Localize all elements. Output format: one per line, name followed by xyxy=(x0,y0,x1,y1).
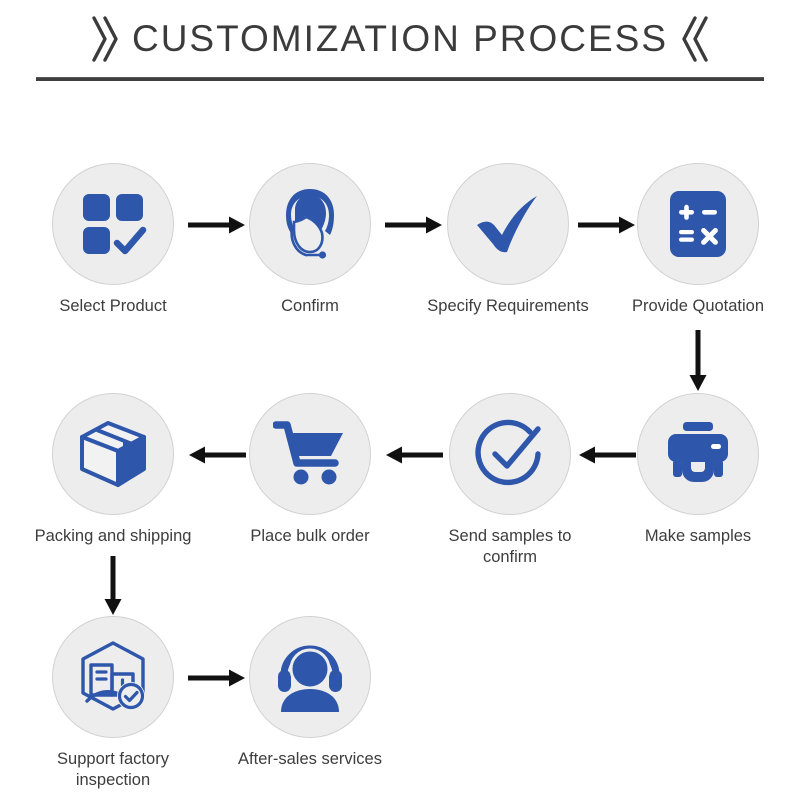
flow-step-confirm[interactable]: Confirm xyxy=(225,163,395,317)
page-title: CUSTOMIZATION PROCESS xyxy=(132,18,668,60)
icon-circle xyxy=(52,616,174,738)
flow-step-label: After-sales services xyxy=(225,749,395,770)
flow-step-label: Send samples to confirm xyxy=(425,526,595,568)
support-agent-headset-icon xyxy=(272,186,348,262)
icon-circle xyxy=(449,393,571,515)
flow-step-packing-and-shipping[interactable]: Packing and shipping xyxy=(28,393,198,547)
arrow-row3-step1-to-step2 xyxy=(188,667,246,689)
chevron-double-right-icon xyxy=(88,15,122,63)
arrow-row1-to-row2 xyxy=(686,330,710,392)
customization-process-infographic: CUSTOMIZATION PROCESS Select Product xyxy=(0,0,800,800)
arrow-row2-step2-to-step1 xyxy=(188,444,246,466)
flow-step-label: Packing and shipping xyxy=(28,526,198,547)
flow-step-specify-requirements[interactable]: Specify Requirements xyxy=(423,163,593,317)
arrow-row1-step1-to-step2 xyxy=(188,214,246,236)
arrow-row1-step2-to-step3 xyxy=(385,214,443,236)
checkmark-icon xyxy=(471,187,545,261)
flow-step-after-sales-services[interactable]: After-sales services xyxy=(225,616,395,770)
flow-step-label: Support factory inspection xyxy=(28,749,198,791)
shopping-cart-icon xyxy=(273,419,347,489)
title-divider xyxy=(36,77,764,81)
grid-check-icon xyxy=(77,188,149,260)
icon-circle xyxy=(637,163,759,285)
arrow-row2-to-row3 xyxy=(101,556,125,616)
title-row: CUSTOMIZATION PROCESS xyxy=(0,8,800,70)
package-box-icon xyxy=(76,417,150,491)
flow-step-label: Place bulk order xyxy=(225,526,395,547)
icon-circle xyxy=(52,163,174,285)
chevron-double-left-icon xyxy=(678,15,712,63)
flow-step-label: Provide Quotation xyxy=(613,296,783,317)
icon-circle xyxy=(637,393,759,515)
arrow-row2-step3-to-step2 xyxy=(385,444,443,466)
flow-step-make-samples[interactable]: Make samples xyxy=(613,393,783,547)
arrow-row2-step4-to-step3 xyxy=(578,444,636,466)
icon-circle xyxy=(447,163,569,285)
flow-step-label: Make samples xyxy=(613,526,783,547)
flow-step-place-bulk-order[interactable]: Place bulk order xyxy=(225,393,395,547)
flow-step-label: Confirm xyxy=(225,296,395,317)
flow-step-support-factory-inspection[interactable]: Support factory inspection xyxy=(28,616,198,791)
icon-circle xyxy=(249,393,371,515)
arrow-row1-step3-to-step4 xyxy=(578,214,636,236)
flow-step-label: Select Product xyxy=(28,296,198,317)
flow-step-provide-quotation[interactable]: Provide Quotation xyxy=(613,163,783,317)
header: CUSTOMIZATION PROCESS xyxy=(0,0,800,100)
icon-circle xyxy=(249,163,371,285)
calculator-icon xyxy=(665,188,731,260)
flow-step-label: Specify Requirements xyxy=(423,296,593,317)
flow-step-send-samples-to-confirm[interactable]: Send samples to confirm xyxy=(425,393,595,568)
icon-circle xyxy=(52,393,174,515)
headphones-person-icon xyxy=(273,642,347,712)
factory-inspection-shield-icon xyxy=(75,639,151,715)
printer-icon xyxy=(662,420,734,488)
icon-circle xyxy=(249,616,371,738)
flow-step-select-product[interactable]: Select Product xyxy=(28,163,198,317)
circle-check-icon xyxy=(472,416,548,492)
